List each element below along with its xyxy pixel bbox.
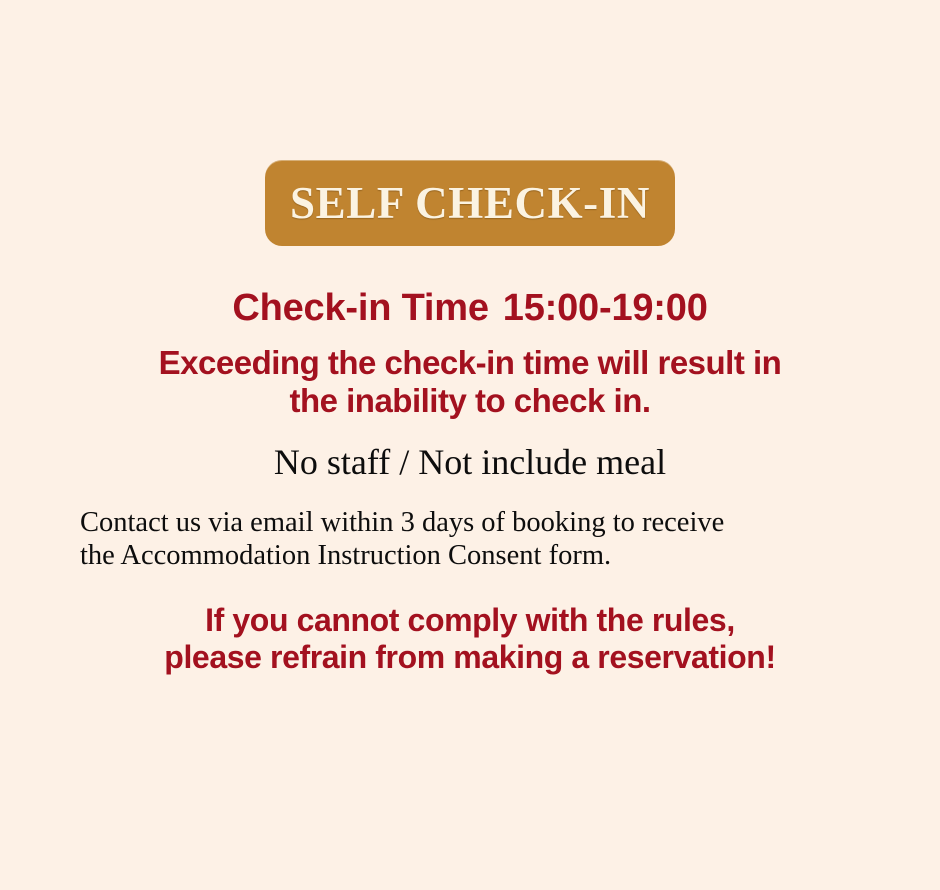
banner-container: SELF CHECK-IN (0, 160, 940, 246)
final-warning-text: If you cannot comply with the rules, ple… (70, 602, 870, 677)
self-checkin-banner: SELF CHECK-IN (265, 160, 675, 246)
final-warning-line-1: If you cannot comply with the rules, (205, 602, 735, 638)
banner-title: SELF CHECK-IN (290, 181, 650, 226)
self-checkin-poster: SELF CHECK-IN Check-in Time15:00-19:00 E… (0, 0, 940, 890)
contact-instructions-line-1: Contact us via email within 3 days of bo… (80, 507, 724, 538)
checkin-time-line: Check-in Time15:00-19:00 (0, 288, 940, 330)
checkin-time-value: 15:00-19:00 (503, 287, 708, 329)
exceed-warning-line-1: Exceeding the check-in time will result … (159, 344, 782, 381)
final-warning-line-2: please refrain from making a reservation… (70, 639, 870, 676)
exceed-warning-line-2: the inability to check in. (110, 382, 830, 420)
contact-instructions-line-2: the Accommodation Instruction Consent fo… (80, 539, 870, 572)
checkin-time-label: Check-in Time (232, 287, 488, 329)
amenities-note: No staff / Not include meal (0, 442, 940, 483)
contact-instructions: Contact us via email within 3 days of bo… (80, 506, 870, 573)
exceed-warning-text: Exceeding the check-in time will result … (110, 344, 830, 421)
